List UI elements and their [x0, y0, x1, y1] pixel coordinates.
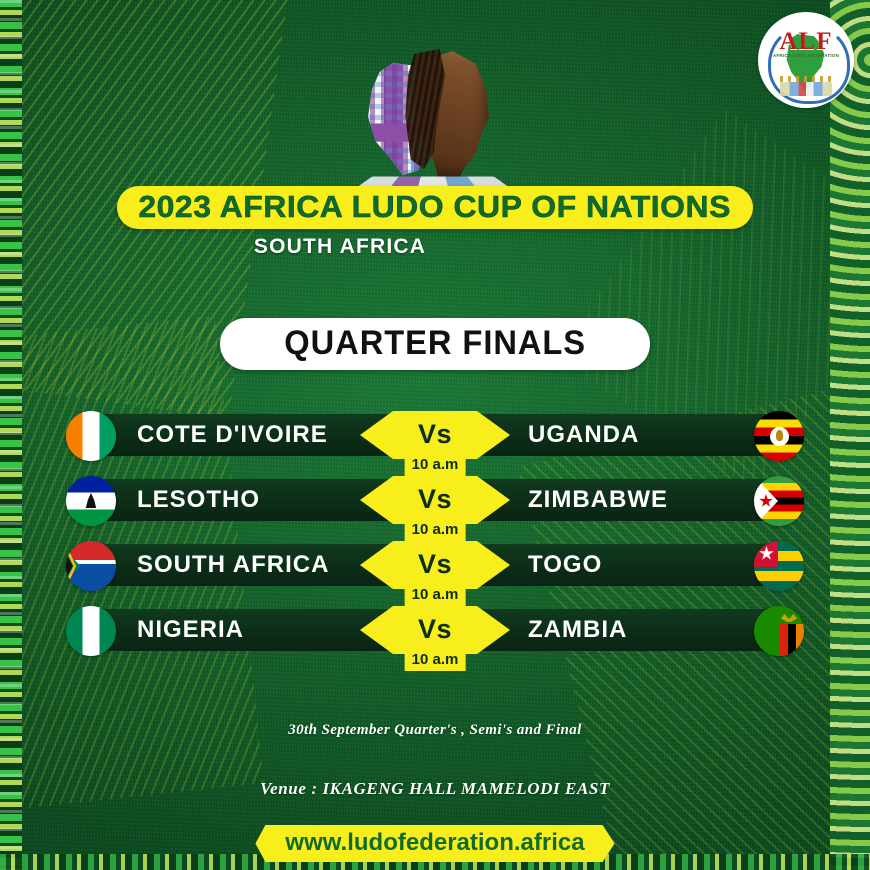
- title-block: 2023 AFRICA LUDO CUP OF NATIONS SOUTH AF…: [0, 186, 870, 259]
- togo-flag: [754, 541, 804, 591]
- match-row[interactable]: LESOTHO Vs 10 a.m ZIMBABWE: [0, 470, 870, 534]
- togo-star-icon: [759, 546, 774, 561]
- vs-label: Vs: [418, 549, 452, 580]
- page-title: 2023 AFRICA LUDO CUP OF NATIONS: [139, 191, 732, 222]
- vs-label: Vs: [418, 419, 452, 450]
- logo-acronym: ALF: [758, 28, 854, 56]
- nigeria-flag: [66, 606, 116, 656]
- match-row[interactable]: NIGERIA Vs 10 a.m ZAMBIA: [0, 600, 870, 664]
- schedule-note: 30th September Quarter's , Semi's and Fi…: [0, 722, 870, 739]
- uganda-flag: [754, 411, 804, 461]
- tournament-poster: ALF AFRICA LUDO FEDERATION 2023 AFRICA L…: [0, 0, 870, 870]
- cote-divoire-flag: [66, 411, 116, 461]
- africa-ludo-head-graphic: [353, 21, 518, 199]
- venue-note: Venue : IKAGENG HALL MAMELODI EAST: [0, 779, 870, 799]
- title-banner: 2023 AFRICA LUDO CUP OF NATIONS: [117, 186, 752, 229]
- match-row[interactable]: COTE D'IVOIRE Vs 10 a.m UGANDA: [0, 405, 870, 469]
- away-team-name: TOGO: [528, 551, 602, 579]
- eagle-emblem-icon: [781, 613, 797, 622]
- match-time-badge: 10 a.m: [405, 650, 466, 671]
- away-team-name: ZIMBABWE: [528, 486, 668, 514]
- zimbabwe-star-icon: [759, 494, 773, 508]
- stage-label: QUARTER FINALS: [284, 326, 586, 360]
- match-row[interactable]: SOUTH AFRICA Vs 10 a.m TOGO: [0, 535, 870, 599]
- zambia-flag: [754, 606, 804, 656]
- logo-ludo-board-icon: [780, 82, 832, 96]
- match-time: 10 a.m: [412, 651, 459, 668]
- home-team-name: SOUTH AFRICA: [137, 551, 329, 579]
- vs-label: Vs: [418, 484, 452, 515]
- alf-logo[interactable]: ALF AFRICA LUDO FEDERATION: [758, 12, 854, 108]
- match-list: COTE D'IVOIRE Vs 10 a.m UGANDA LESOTHO V…: [0, 405, 870, 665]
- south-africa-flag: [66, 541, 116, 591]
- logo-subtitle: AFRICA LUDO FEDERATION: [758, 53, 854, 58]
- crane-emblem-icon: [776, 430, 783, 441]
- flag-gold-wedge-icon: [66, 541, 100, 591]
- website-banner[interactable]: www.ludofederation.africa: [255, 825, 614, 862]
- stage-block: QUARTER FINALS: [0, 318, 870, 370]
- footer: www.ludofederation.africa: [0, 825, 870, 862]
- website-url: www.ludofederation.africa: [285, 829, 584, 856]
- lesotho-flag: [66, 476, 116, 526]
- home-team-name: NIGERIA: [137, 616, 244, 644]
- home-team-name: LESOTHO: [137, 486, 260, 514]
- vs-label: Vs: [418, 614, 452, 645]
- zimbabwe-flag: [754, 476, 804, 526]
- home-team-name: COTE D'IVOIRE: [137, 421, 328, 449]
- hero-artwork: [0, 14, 870, 199]
- stage-banner: QUARTER FINALS: [220, 318, 650, 370]
- away-team-name: ZAMBIA: [528, 616, 627, 644]
- host-country-label: SOUTH AFRICA: [0, 235, 680, 259]
- away-team-name: UGANDA: [528, 421, 639, 449]
